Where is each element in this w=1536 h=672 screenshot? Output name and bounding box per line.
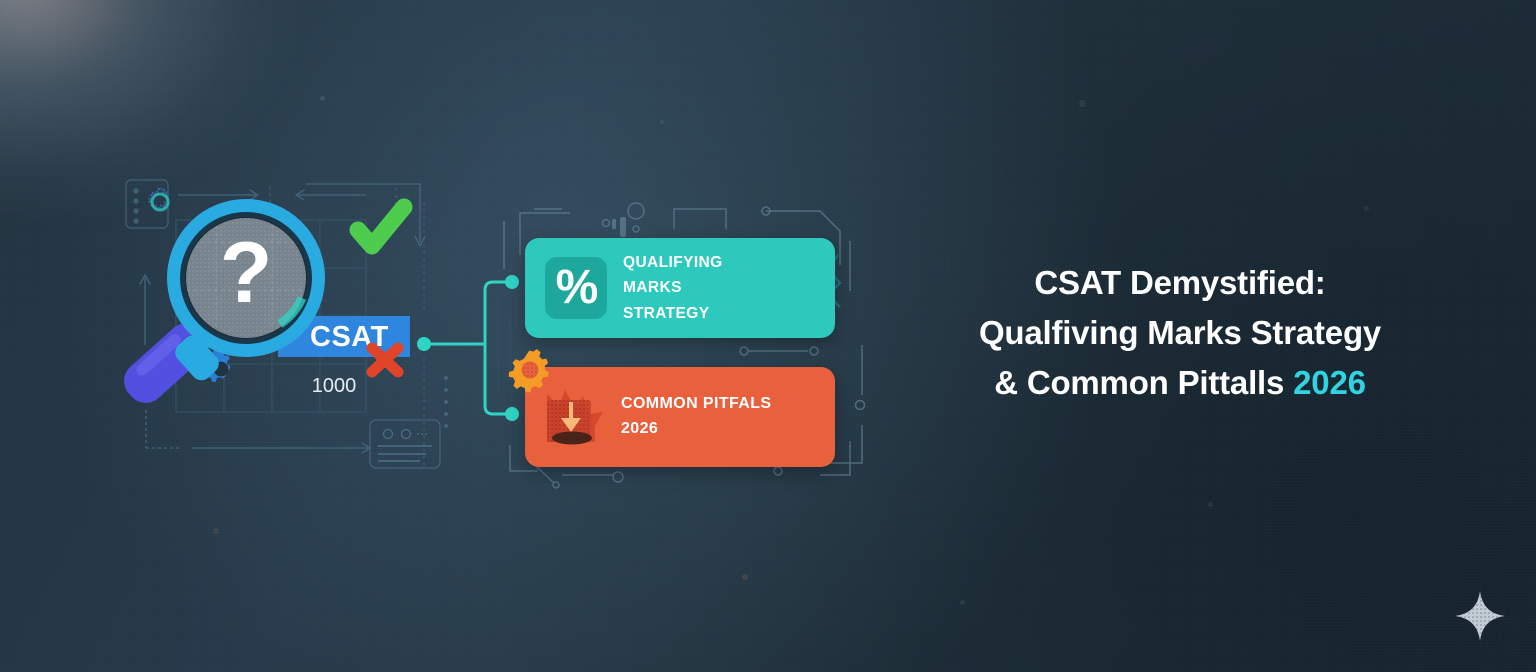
arrow-left-top xyxy=(296,190,366,200)
title-line-3-prefix: & Common Pittalls xyxy=(994,364,1293,401)
check-mark-icon xyxy=(358,207,404,246)
bg-speck xyxy=(1364,206,1369,211)
title-year-accent: 2026 xyxy=(1293,364,1366,401)
title-line-3: & Common Pittalls 2026 xyxy=(930,358,1430,408)
card-label-qualifying-marks: QUALIFYING MARKS STRATEGY xyxy=(623,250,723,325)
magnifier-icon: ? xyxy=(120,208,316,411)
title-line-2: Qualfiving Marks Strategy xyxy=(930,308,1430,358)
connector-node-bottom xyxy=(505,407,519,421)
gear-dotted-icon xyxy=(150,189,168,210)
title-line-1: CSAT Demystified: xyxy=(930,258,1430,308)
bg-speck xyxy=(960,600,965,605)
banner-canvas: CSAT 1000 xyxy=(0,0,1536,672)
bg-speck xyxy=(1208,502,1213,507)
percent-glyph: % xyxy=(556,264,597,312)
score-value-label: 1000 xyxy=(312,375,357,397)
connector-node-top xyxy=(505,275,519,289)
settings-panel-decor xyxy=(126,180,168,228)
pitfall-hole-icon xyxy=(539,380,613,454)
arrow-bottom xyxy=(146,410,370,453)
card-label-common-pitfalls: COMMON PITFALS 2026 xyxy=(621,392,771,442)
card-common-pitfalls[interactable]: COMMON PITFALS 2026 xyxy=(525,367,835,467)
arrow-up-left xyxy=(140,275,150,345)
arrow-right-top xyxy=(178,190,258,200)
corner-warm-flare xyxy=(0,0,170,90)
percent-icon: % xyxy=(545,257,607,319)
banner-title: CSAT Demystified: Qualfiving Marks Strat… xyxy=(930,258,1430,408)
bg-speck xyxy=(742,574,748,580)
bg-speck xyxy=(320,96,325,101)
bg-speck xyxy=(1079,100,1086,107)
card-qualifying-marks-strategy[interactable]: % QUALIFYING MARKS STRATEGY xyxy=(525,238,835,338)
sparkle-icon xyxy=(1452,588,1508,644)
bg-speck xyxy=(660,120,664,124)
bg-speck xyxy=(213,528,219,534)
connector-node-source xyxy=(417,337,431,351)
question-mark-glyph: ? xyxy=(220,225,273,321)
